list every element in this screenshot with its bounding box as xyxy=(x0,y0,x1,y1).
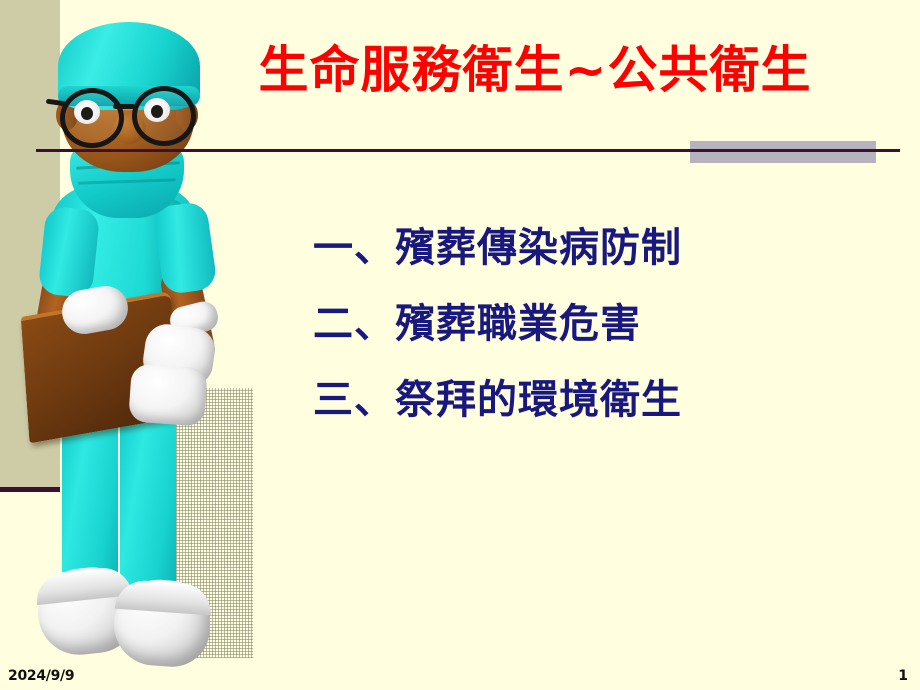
eyeglasses-bridge xyxy=(113,104,135,109)
slide-title: 生命服務衛生~公共衛生 xyxy=(205,44,865,97)
glove-right-fingers xyxy=(128,363,208,426)
shoe-right xyxy=(111,577,213,669)
list-item: 三、祭拜的環境衛生 xyxy=(313,380,873,420)
slide-body-list: 一、殯葬傳染病防制 二、殯葬職業危害 三、祭拜的環境衛生 xyxy=(313,228,873,420)
list-item: 二、殯葬職業危害 xyxy=(313,304,873,344)
title-divider-block xyxy=(690,141,876,163)
eyeglasses-lens-right xyxy=(132,86,196,146)
footer-page-number: 1 xyxy=(898,668,908,684)
presentation-slide: 生命服務衛生~公共衛生 一、殯葬傳染病防制 二、殯葬職業危害 三、祭拜的環境衛生… xyxy=(0,0,920,690)
list-item: 一、殯葬傳染病防制 xyxy=(313,228,873,268)
medical-worker-illustration xyxy=(18,8,248,668)
sleeve-left xyxy=(38,205,101,298)
footer-date: 2024/9/9 xyxy=(8,668,74,684)
eyeglasses-lens-left xyxy=(60,88,124,148)
title-divider-line xyxy=(36,149,900,152)
